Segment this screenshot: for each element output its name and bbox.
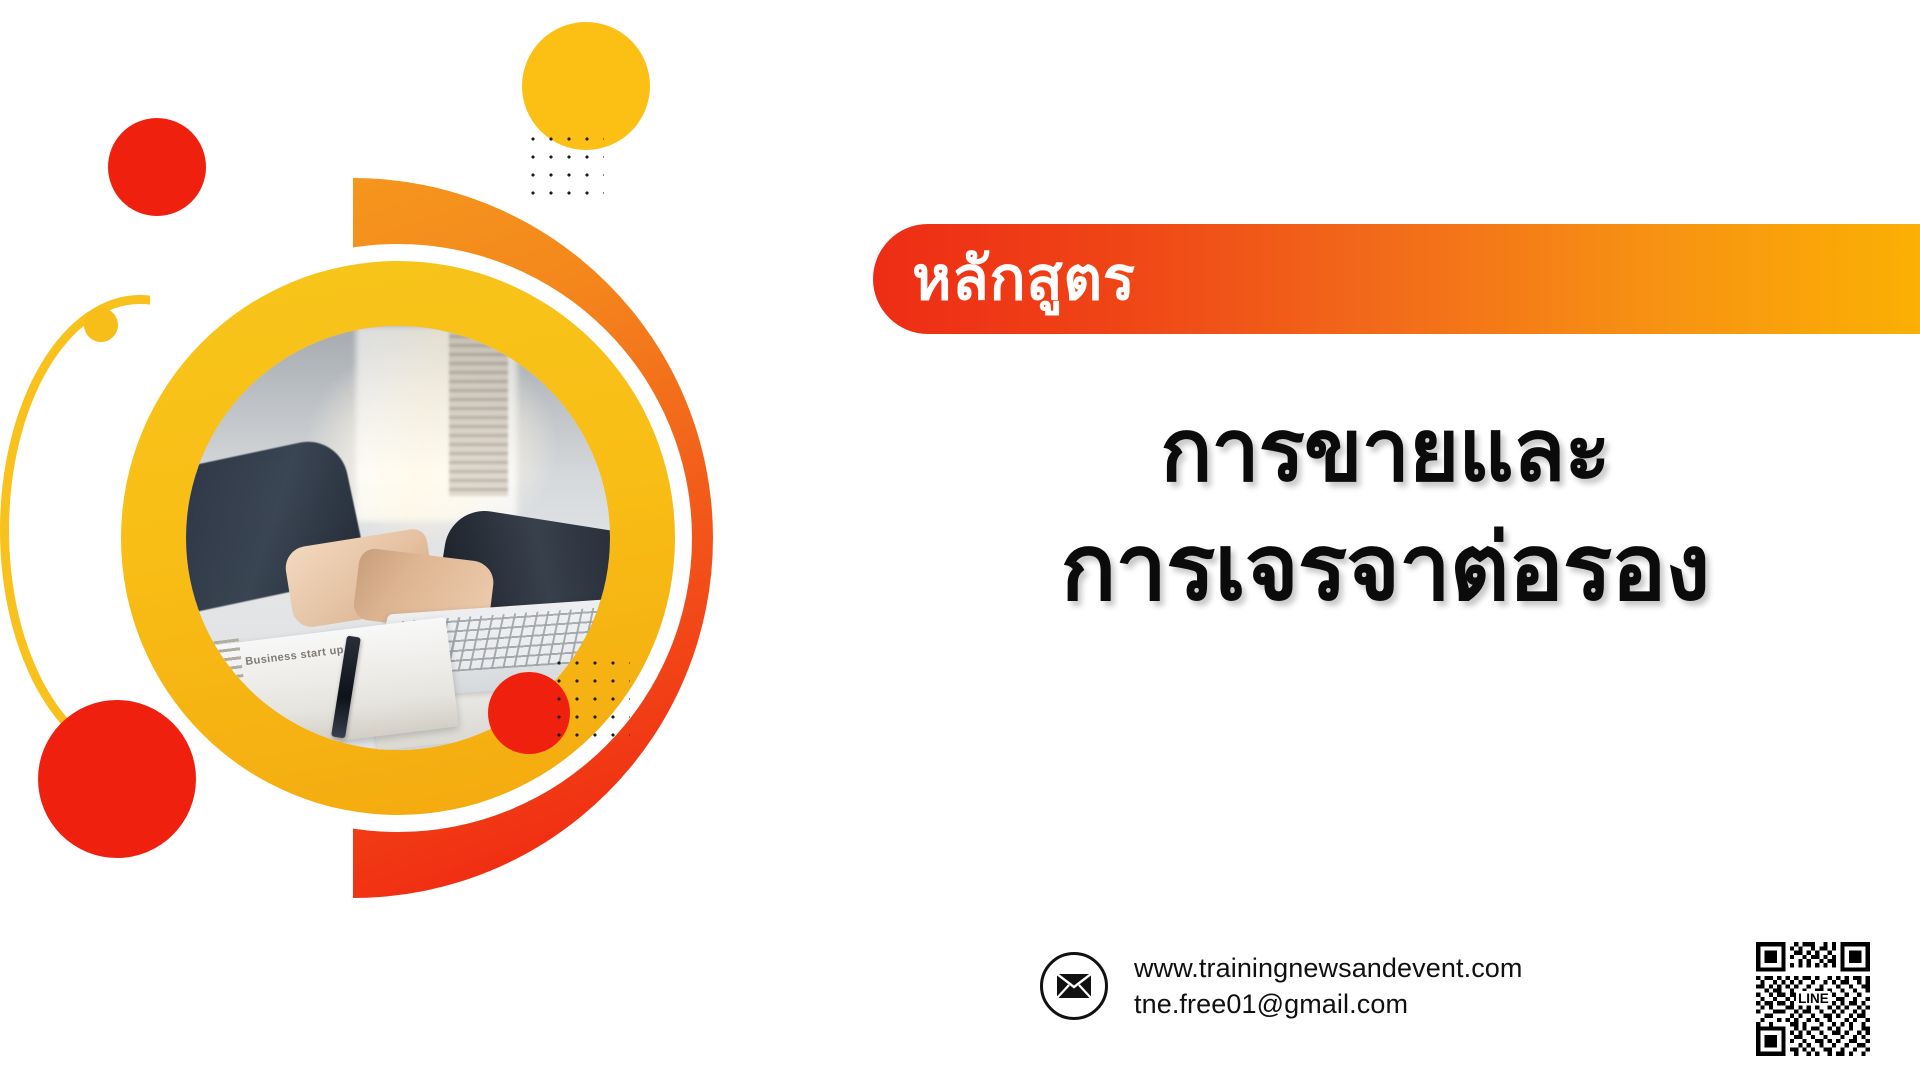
page-title-line-2: การเจรจาต่อรอง	[880, 508, 1890, 628]
dot-grid-bottom	[548, 652, 630, 740]
contact-website[interactable]: www.trainingnewsandevent.com	[1134, 955, 1523, 982]
envelope-icon	[1040, 952, 1108, 1020]
ribbon-label: หลักสูตร	[912, 249, 1135, 309]
course-ribbon: หลักสูตร	[873, 224, 1920, 334]
qr-line-label: LINE	[1798, 991, 1829, 1006]
contact-email[interactable]: tne.free01@gmail.com	[1134, 991, 1523, 1018]
line-qr-code[interactable]: LINE	[1752, 938, 1874, 1060]
left-graphic-composition: Business start up	[0, 0, 790, 1080]
page-title-line-1: การขายและ	[1160, 401, 1609, 501]
contact-block: www.trainingnewsandevent.com tne.free01@…	[1040, 952, 1523, 1020]
page-title: การขายและ การเจรจาต่อรอง	[880, 396, 1890, 627]
decorative-red-circle-top	[108, 118, 206, 216]
poster-canvas: Business start up หลักสูตร การขายและ การ…	[0, 0, 1920, 1080]
decorative-red-circle-bottom	[38, 700, 196, 858]
arc-knob-top-icon	[84, 308, 118, 342]
